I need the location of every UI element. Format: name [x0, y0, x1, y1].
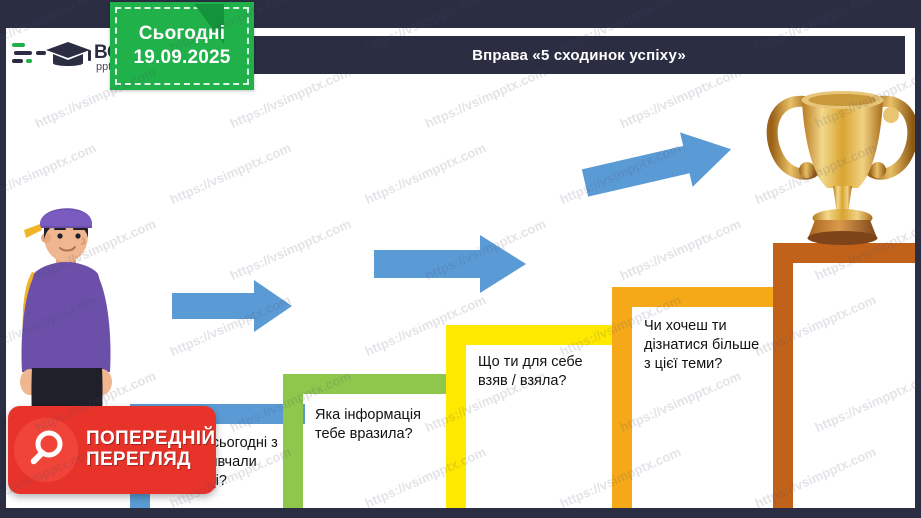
- frame-right: [915, 0, 921, 518]
- step-4-left-bar: [612, 287, 632, 510]
- preview-badge[interactable]: ПОПЕРЕДНІЙ ПЕРЕГЛЯД: [8, 406, 216, 494]
- step-2[interactable]: Яка інформація тебе вразила?: [283, 374, 463, 510]
- preview-badge-line1: ПОПЕРЕДНІЙ: [86, 429, 215, 450]
- arrow-1: [172, 280, 292, 332]
- step-2-left-bar: [283, 374, 303, 510]
- step-5-left-bar: [773, 243, 793, 510]
- step-4-top-bar: [612, 287, 788, 307]
- slide-stage: Що ми сьогодні з вами вивчали на уроці? …: [0, 0, 921, 518]
- step-5[interactable]: [773, 243, 919, 510]
- slide-title-bar: Вправа «5 сходинок успіху»: [253, 36, 905, 74]
- trophy-icon: [765, 72, 920, 247]
- date-badge: Сьогодні 19.09.2025: [110, 2, 254, 90]
- frame-bottom: [0, 508, 921, 518]
- page-title: Вправа «5 сходинок успіху»: [472, 47, 686, 64]
- step-3[interactable]: Що ти для себе взяв / взяла?: [446, 325, 631, 510]
- step-3-top-bar: [446, 325, 631, 345]
- frame-left: [0, 0, 6, 518]
- magnifier-icon: [14, 418, 78, 482]
- step-2-top-bar: [283, 374, 463, 394]
- date-badge-label: Сьогодні: [139, 22, 225, 46]
- step-3-left-bar: [446, 325, 466, 510]
- date-badge-value: 19.09.2025: [133, 46, 230, 70]
- preview-badge-line2: ПЕРЕГЛЯД: [86, 450, 215, 471]
- arrow-2: [374, 235, 526, 293]
- step-4[interactable]: Чи хочеш ти дізнатися більше з цієї теми…: [612, 287, 788, 510]
